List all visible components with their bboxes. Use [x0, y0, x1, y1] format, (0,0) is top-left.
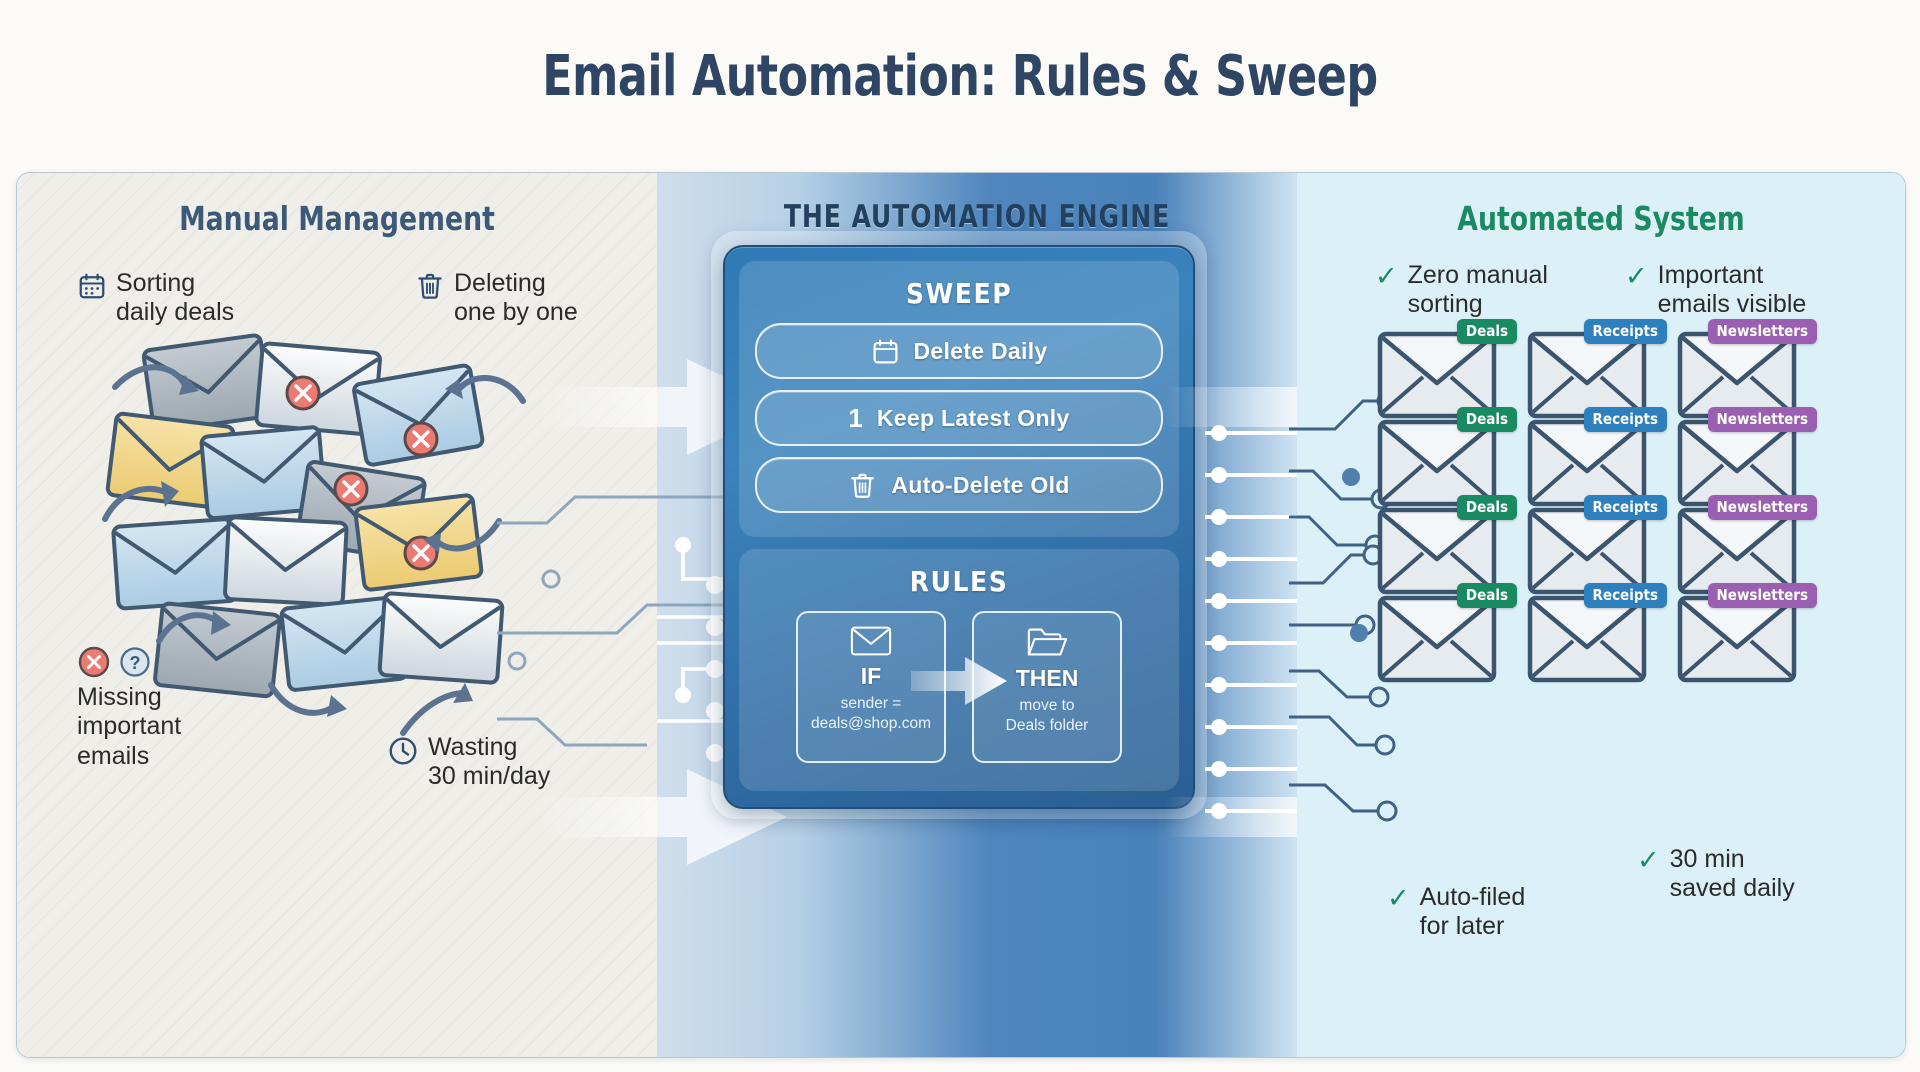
- envelope-icon: [1527, 595, 1647, 683]
- folder-icon: [1026, 625, 1068, 659]
- sorted-email-item[interactable]: Receipts: [1527, 419, 1647, 507]
- sweep-title: SWEEP: [755, 277, 1163, 310]
- sorted-email-item[interactable]: Newsletters: [1677, 507, 1797, 595]
- sweep-action-delete-daily[interactable]: Delete Daily: [755, 323, 1163, 379]
- envelope-icon: [1527, 331, 1647, 419]
- panel-automated-system: Automated System: [1297, 173, 1905, 1057]
- sorted-email-item[interactable]: Deals: [1377, 595, 1497, 683]
- envelope-icon: [1677, 507, 1797, 595]
- envelope-icon: [1677, 331, 1797, 419]
- check-icon: ✓: [1387, 885, 1410, 912]
- envelope-icon: [1377, 331, 1497, 419]
- category-badge: Deals: [1457, 583, 1517, 608]
- category-badge: Receipts: [1584, 495, 1667, 520]
- category-badge: Receipts: [1584, 583, 1667, 608]
- calendar-icon: [77, 271, 107, 301]
- sorted-email-item[interactable]: Deals: [1377, 507, 1497, 595]
- error-marker: [335, 473, 367, 505]
- panel-automation-engine: THE AUTOMATION ENGINE: [657, 173, 1297, 1057]
- sorted-email-item[interactable]: Receipts: [1527, 507, 1647, 595]
- if-then-arrow-icon: [911, 657, 1007, 705]
- benefit-label: Zero manual sorting: [1408, 261, 1548, 320]
- sorted-envelope-grid: DealsReceiptsNewslettersDealsReceiptsNew…: [1377, 331, 1797, 683]
- error-x-icon: [77, 645, 111, 679]
- pill-label: Keep Latest Only: [877, 405, 1070, 432]
- calendar-icon: [871, 337, 900, 366]
- pain-label: Deleting one by one: [454, 269, 578, 328]
- error-marker: [405, 423, 437, 455]
- right-panel-heading: Automated System: [1327, 199, 1874, 238]
- envelope-icon: [1527, 419, 1647, 507]
- question-mark-icon: ?: [118, 645, 152, 679]
- category-badge: Newsletters: [1708, 495, 1817, 520]
- infographic-canvas: Email Automation: Rules & Sweep Manual M…: [0, 0, 1920, 1072]
- count-badge: 1: [848, 403, 862, 434]
- envelope-icon: [1377, 507, 1497, 595]
- envelope-icon: [1377, 595, 1497, 683]
- pain-point-missing: ? Missing important emails: [77, 645, 181, 771]
- category-badge: Newsletters: [1708, 583, 1817, 608]
- category-badge: Deals: [1457, 319, 1517, 344]
- sweep-action-keep-latest[interactable]: 1 Keep Latest Only: [755, 390, 1163, 446]
- rule-then-keyword: THEN: [1016, 665, 1079, 692]
- sorted-email-item[interactable]: Newsletters: [1677, 419, 1797, 507]
- category-badge: Newsletters: [1708, 319, 1817, 344]
- sorted-email-item[interactable]: Receipts: [1527, 595, 1647, 683]
- check-icon: ✓: [1625, 263, 1648, 290]
- svg-text:?: ?: [130, 653, 141, 673]
- sorted-email-item[interactable]: Newsletters: [1677, 331, 1797, 419]
- pain-label: Missing important emails: [77, 683, 181, 771]
- category-badge: Newsletters: [1708, 407, 1817, 432]
- envelope-icon: [1377, 419, 1497, 507]
- page-title: Email Automation: Rules & Sweep: [115, 44, 1805, 109]
- category-badge: Receipts: [1584, 407, 1667, 432]
- rule-then-detail: move to Deals folder: [1006, 696, 1089, 735]
- benefit-auto-filed: ✓ Auto-filed for later: [1387, 883, 1525, 942]
- sorted-email-item[interactable]: Deals: [1377, 419, 1497, 507]
- engine-card: SWEEP Delete Daily 1 K: [723, 245, 1195, 809]
- envelope-icon: [1677, 419, 1797, 507]
- rules-title: RULES: [755, 565, 1163, 598]
- envelope-icon: [1677, 595, 1797, 683]
- rules-section: RULES IF sender = deals@shop.com: [739, 549, 1179, 791]
- error-marker: [287, 377, 319, 409]
- sorted-email-item[interactable]: Receipts: [1527, 331, 1647, 419]
- circuit-node-filled: [1342, 468, 1360, 486]
- sweep-section: SWEEP Delete Daily 1 K: [739, 261, 1179, 537]
- rule-if-keyword: IF: [861, 663, 881, 690]
- category-badge: Deals: [1457, 495, 1517, 520]
- sorted-email-item[interactable]: Deals: [1377, 331, 1497, 419]
- envelope-icon: [1527, 507, 1647, 595]
- left-panel-heading: Manual Management: [49, 199, 625, 238]
- if-then-row: IF sender = deals@shop.com TH: [755, 611, 1163, 763]
- circuit-node-filled: [1350, 624, 1368, 642]
- trash-icon: [848, 471, 877, 500]
- envelope-icon: [850, 625, 892, 657]
- benefit-label: Important emails visible: [1658, 261, 1807, 320]
- pill-label: Auto-Delete Old: [891, 472, 1069, 499]
- check-icon: ✓: [1637, 847, 1660, 874]
- sweep-action-auto-delete-old[interactable]: Auto-Delete Old: [755, 457, 1163, 513]
- category-badge: Deals: [1457, 407, 1517, 432]
- benefit-label: 30 min saved daily: [1670, 845, 1795, 904]
- category-badge: Receipts: [1584, 319, 1667, 344]
- pain-point-sorting: Sorting daily deals: [77, 269, 234, 328]
- clock-icon: [387, 735, 419, 767]
- benefit-zero-manual-sorting: ✓ Zero manual sorting: [1375, 261, 1548, 320]
- check-icon: ✓: [1375, 263, 1398, 290]
- sorted-email-item[interactable]: Newsletters: [1677, 595, 1797, 683]
- trash-icon: [415, 271, 445, 301]
- pill-label: Delete Daily: [914, 338, 1048, 365]
- benefit-time-saved: ✓ 30 min saved daily: [1637, 845, 1795, 904]
- pain-label: Sorting daily deals: [116, 269, 234, 328]
- pain-point-deleting: Deleting one by one: [415, 269, 578, 328]
- three-column-board: Manual Management: [16, 172, 1906, 1058]
- center-panel-heading: THE AUTOMATION ENGINE: [689, 199, 1265, 235]
- benefit-important-emails-visible: ✓ Important emails visible: [1625, 261, 1806, 320]
- benefit-label: Auto-filed for later: [1420, 883, 1526, 942]
